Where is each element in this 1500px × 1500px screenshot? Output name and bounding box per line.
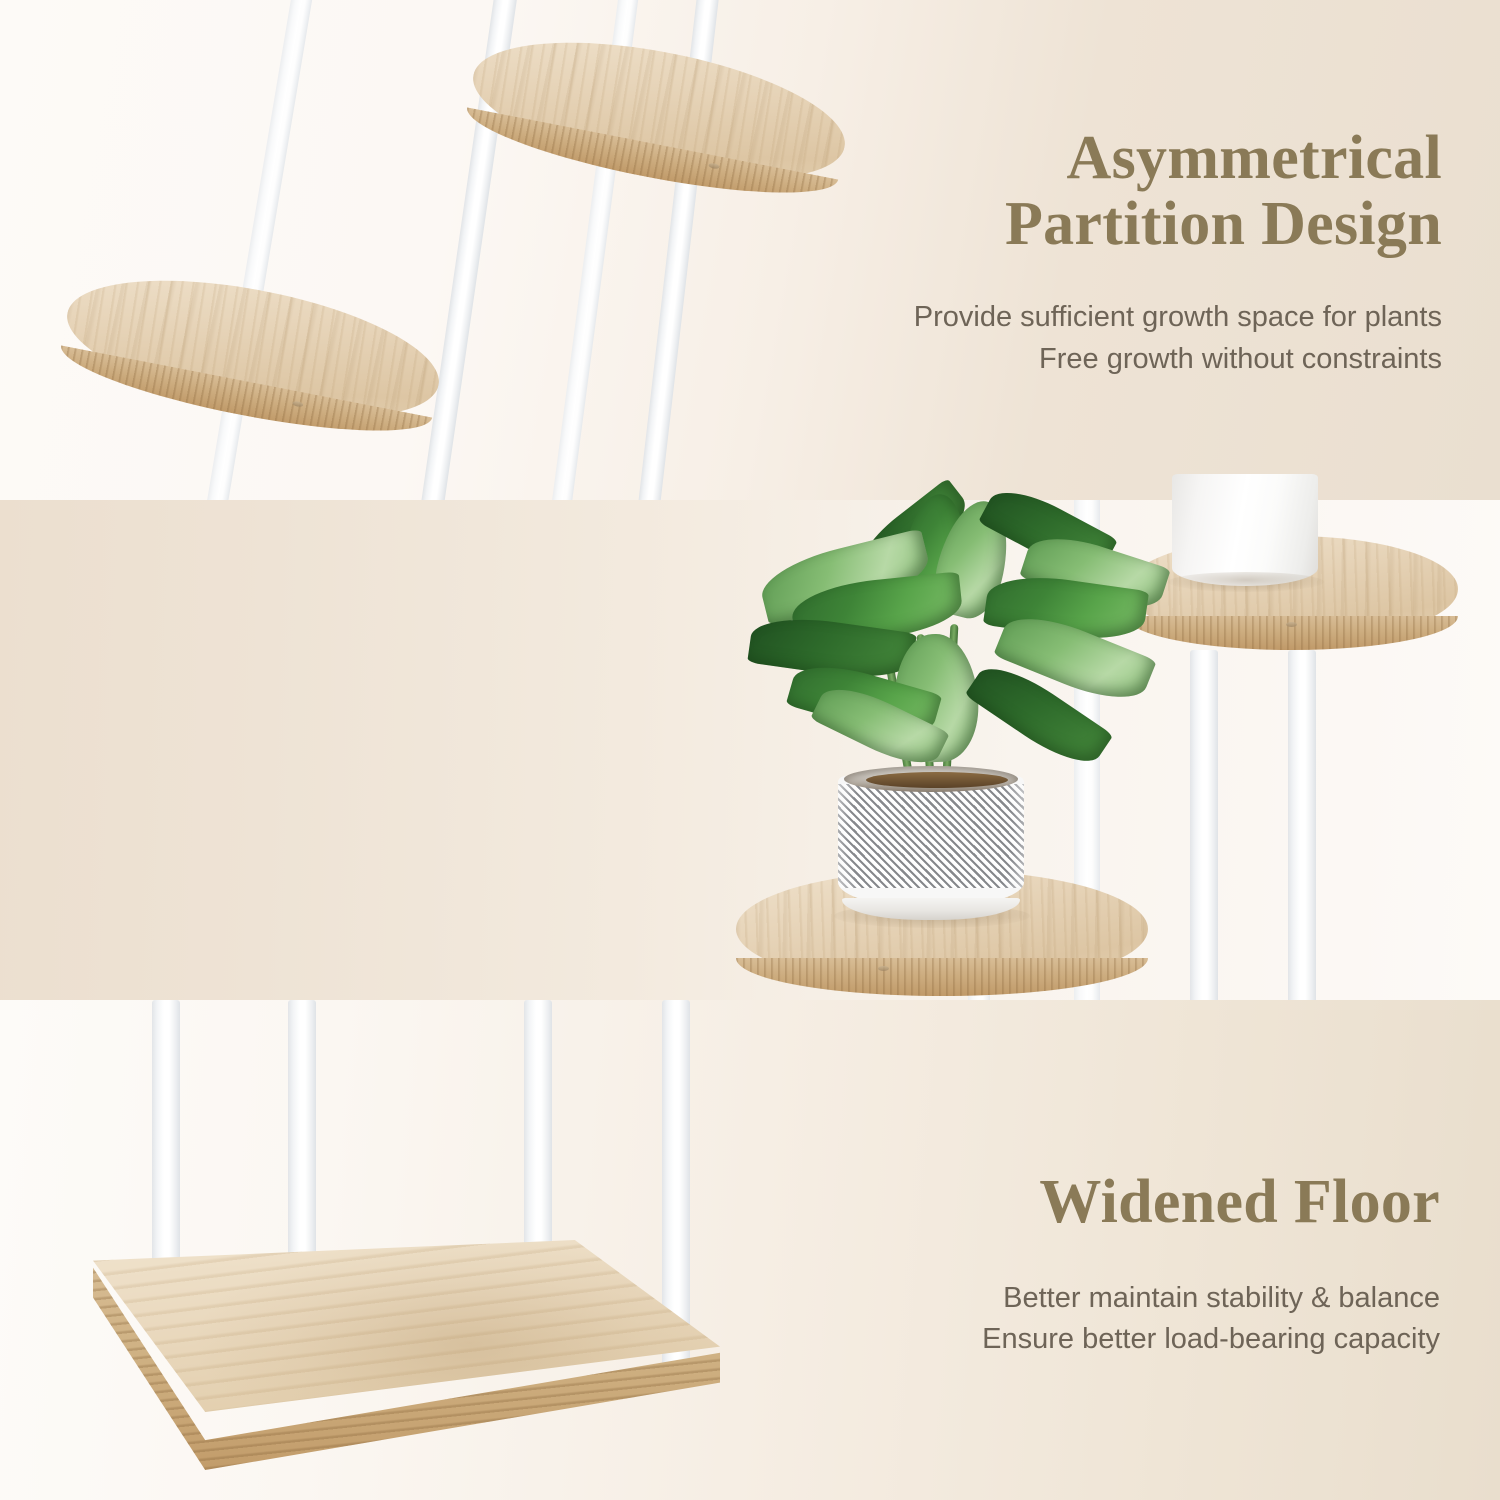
subtext-line-1: Better maintain stability & balance xyxy=(840,1278,1440,1319)
subtext-asymmetrical-partition-design: Provide sufficient growth space for plan… xyxy=(822,297,1442,379)
dieffenbachia-plant xyxy=(736,484,1156,804)
pot-diamond-pattern xyxy=(838,784,1024,888)
headline-asymmetrical-partition-design: Asymmetrical Partition Design xyxy=(822,126,1442,257)
panel-widened-floor: Widened Floor Better maintain stability … xyxy=(0,1000,1500,1500)
headline-line-1: Asymmetrical xyxy=(1067,124,1442,192)
pot-base-ring xyxy=(842,898,1020,920)
patterned-planter-pot xyxy=(838,766,1024,920)
pot-body xyxy=(838,776,1024,908)
infographic-page: Asymmetrical Partition Design Provide su… xyxy=(0,0,1500,1500)
square-wood-base xyxy=(60,1240,780,1470)
pot-soil xyxy=(866,772,1008,788)
shelf-screw xyxy=(878,966,889,971)
subtext-widened-floor: Better maintain stability & balance Ensu… xyxy=(840,1278,1440,1360)
frame-leg-front-left xyxy=(1190,650,1218,1000)
panel-asymmetrical-partition-design: Asymmetrical Partition Design Provide su… xyxy=(0,0,1500,500)
white-planter-shadow xyxy=(1168,572,1324,592)
subtext-line-2: Ensure better load-bearing capacity xyxy=(840,1319,1440,1360)
frame-leg-1 xyxy=(204,0,317,500)
white-planter-pot xyxy=(1172,474,1318,586)
shelf-screw xyxy=(1286,622,1297,627)
text-block-widened-floor: Widened Floor Better maintain stability … xyxy=(840,1170,1440,1360)
subtext-line-1: Provide sufficient growth space for plan… xyxy=(822,297,1442,338)
pot-rim xyxy=(844,766,1018,792)
headline-line-2: Partition Design xyxy=(1005,190,1442,258)
headline-widened-floor: Widened Floor xyxy=(840,1170,1440,1236)
frame-leg-front-right xyxy=(1288,650,1316,1000)
text-block-asymmetrical-partition-design: Asymmetrical Partition Design Provide su… xyxy=(822,126,1442,380)
subtext-line-2: Free growth without constraints xyxy=(822,339,1442,380)
round-shelf-upper xyxy=(462,17,856,205)
